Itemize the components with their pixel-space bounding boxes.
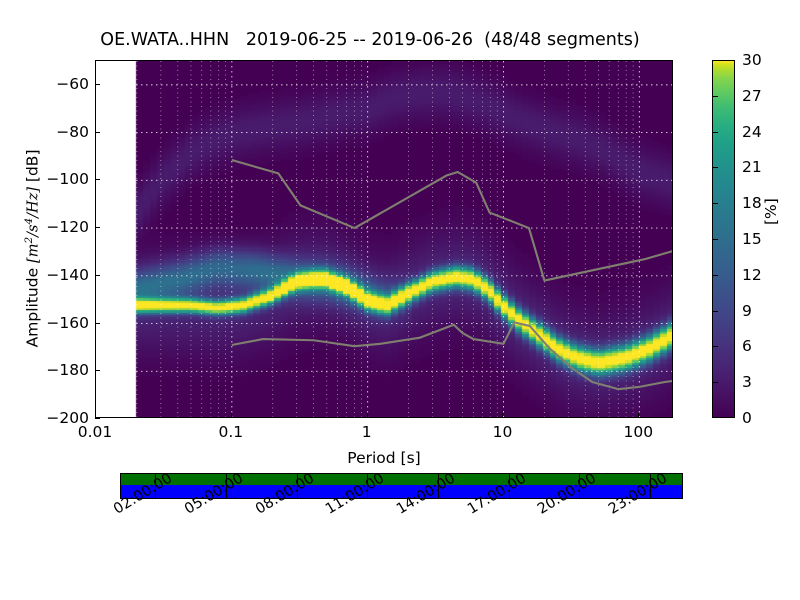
x-tick-label: 0.1 [219, 423, 244, 441]
y-tick-label: −60 [56, 75, 89, 93]
colorbar-tick-mark [712, 203, 718, 204]
colorbar-tick-label: 30 [742, 51, 762, 69]
y-tick-label: −120 [46, 218, 89, 236]
colorbar-tick-label: 24 [742, 123, 762, 141]
colorbar-unit-label: [%] [762, 198, 780, 225]
y-tick-mark [95, 418, 100, 419]
y-tick-label: −80 [56, 123, 89, 141]
coverage-tick-mark [438, 473, 439, 499]
colorbar-tick-mark [712, 167, 718, 168]
colorbar-tick-mark [712, 132, 718, 133]
colorbar-tick-label: 3 [742, 373, 752, 391]
coverage-tick-mark [650, 473, 651, 499]
x-axis-title: Period [s] [95, 449, 673, 467]
colorbar-tick-mark [712, 346, 718, 347]
coverage-tick-mark [509, 473, 510, 499]
coverage-tick-mark [367, 473, 368, 499]
x-tick-label: 0.01 [78, 423, 113, 441]
x-tick-label: 1 [362, 423, 372, 441]
y-tick-mark [95, 275, 100, 276]
x-tick-mark [95, 413, 96, 418]
page-title: OE.WATA..HHN 2019-06-25 -- 2019-06-26 (4… [0, 30, 740, 50]
x-tick-label: 100 [624, 423, 654, 441]
y-tick-mark [95, 323, 100, 324]
colorbar-tick-mark [712, 311, 718, 312]
y-tick-mark [95, 370, 100, 371]
coverage-tick-mark [579, 473, 580, 499]
colorbar-tick-label: 21 [742, 158, 762, 176]
colorbar-tick-label: 6 [742, 337, 752, 355]
y-tick-mark [95, 84, 100, 85]
colorbar-tick-label: 15 [742, 230, 762, 248]
ppsd-density-heatmap [96, 61, 672, 417]
x-axis-tick-labels: 0.010.1110100 [95, 423, 673, 445]
x-tick-mark [231, 413, 232, 418]
coverage-tick-mark [226, 473, 227, 499]
colorbar-tick-label: 9 [742, 302, 752, 320]
x-tick-mark [502, 413, 503, 418]
y-tick-label: −100 [46, 170, 89, 188]
y-tick-mark [95, 227, 100, 228]
coverage-tick-mark [155, 473, 156, 499]
colorbar-tick-mark [712, 275, 718, 276]
y-tick-label: −140 [46, 266, 89, 284]
colorbar-tick-mark [712, 239, 718, 240]
y-tick-mark [95, 132, 100, 133]
x-tick-label: 10 [493, 423, 513, 441]
y-tick-label: −180 [46, 361, 89, 379]
x-tick-mark [367, 413, 368, 418]
colorbar-tick-label: 0 [742, 409, 752, 427]
colorbar-tick-label: 27 [742, 87, 762, 105]
colorbar-tick-label: 12 [742, 266, 762, 284]
colorbar-tick-label: 18 [742, 194, 762, 212]
y-tick-label: −160 [46, 314, 89, 332]
coverage-tick-mark [297, 473, 298, 499]
time-axis-tick-labels: 02:00:0005:00:0008:00:0011:00:0014:00:00… [0, 500, 800, 570]
y-tick-mark [95, 179, 100, 180]
colorbar-tick-mark [712, 96, 718, 97]
colorbar-tick-mark [712, 382, 718, 383]
y-axis-title: Amplitude [m2/s4/Hz] [dB] [23, 98, 42, 398]
x-tick-mark [638, 413, 639, 418]
plot-clip-region [96, 61, 672, 417]
ppsd-plot-axes [95, 60, 673, 418]
colorbar-tick-labels: 036912151821242730 [742, 60, 800, 418]
